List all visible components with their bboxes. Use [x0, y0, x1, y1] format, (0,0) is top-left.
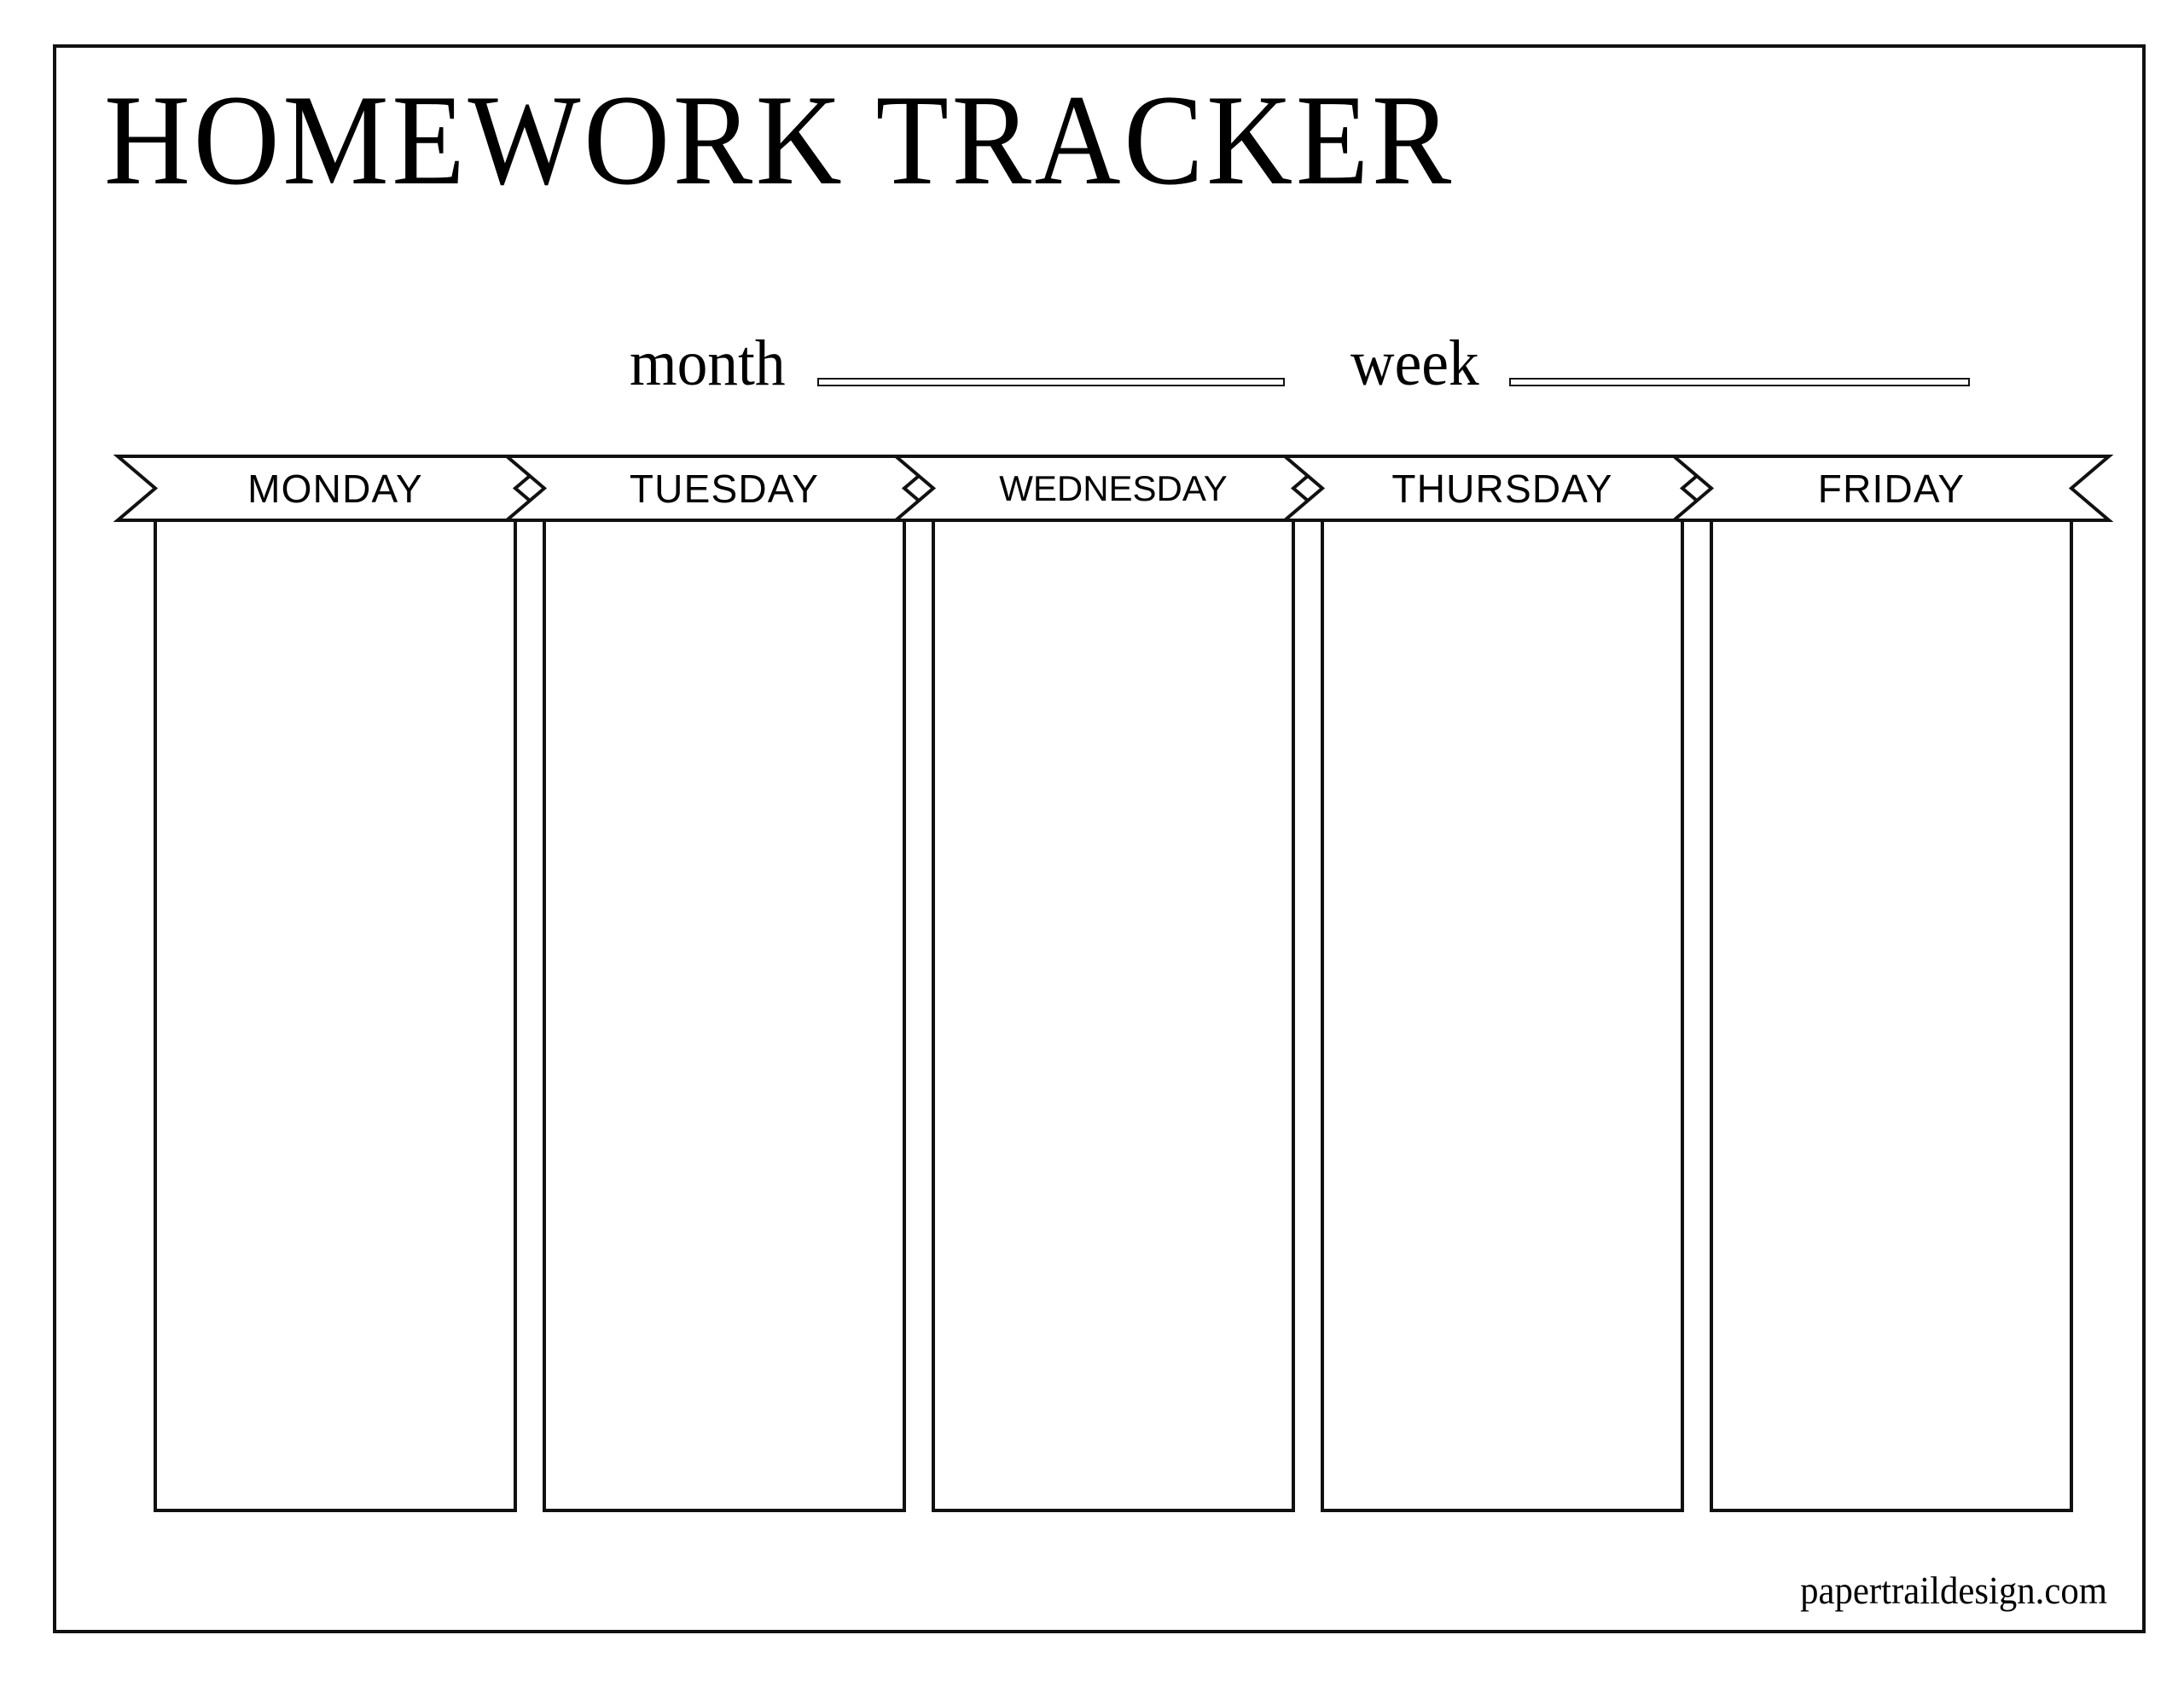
notes-area-friday[interactable] [1710, 488, 2073, 1512]
ribbon-banner-wednesday [894, 455, 1333, 522]
notes-area-thursday[interactable] [1321, 488, 1684, 1512]
notes-area-tuesday[interactable] [543, 488, 906, 1512]
footer-credit: papertraildesign.com [1800, 1571, 2107, 1610]
ribbon-banner-thursday [1283, 455, 1722, 522]
notes-area-wednesday[interactable] [932, 488, 1295, 1512]
ribbon-banner-friday [1672, 455, 2111, 522]
ribbon-banner-tuesday [505, 455, 944, 522]
day-columns-group: MONDAY TUESDAY WEDNESDAY [0, 0, 2184, 1687]
notes-area-monday[interactable] [154, 488, 517, 1512]
ribbon-banner-monday [116, 455, 555, 522]
printable-sheet: HOMEWORK TRACKER month week MONDAY [0, 0, 2184, 1687]
